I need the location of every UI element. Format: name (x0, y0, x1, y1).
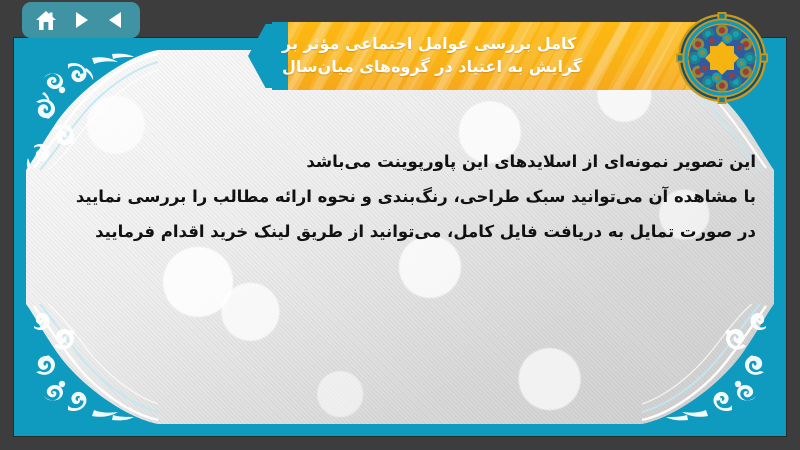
next-button[interactable] (66, 7, 96, 33)
body-line-2: با مشاهده آن می‌توانید سبک طراحی، رنگ‌بن… (44, 179, 756, 214)
title-line-2: گرایش به اعتیاد در گروه‌های میان‌سال (282, 56, 582, 79)
slide-body-text: این تصویر نمونه‌ای از اسلایدهای این پاور… (44, 144, 756, 249)
title-line-1: کامل بررسی عوامل اجتماعی مؤثر بر (282, 33, 576, 56)
body-line-1: این تصویر نمونه‌ای از اسلایدهای این پاور… (44, 144, 756, 179)
home-button[interactable] (31, 7, 61, 33)
corner-ornament-bottom-left (26, 304, 158, 424)
slide-frame: این تصویر نمونه‌ای از اسلایدهای این پاور… (14, 38, 786, 436)
persian-medallion-icon (676, 12, 768, 104)
body-line-3: در صورت تمایل به دریافت فایل کامل، می‌تو… (44, 214, 756, 249)
slide-content-panel: این تصویر نمونه‌ای از اسلایدهای این پاور… (26, 50, 774, 424)
prev-button[interactable] (101, 7, 131, 33)
presentation-slide: این تصویر نمونه‌ای از اسلایدهای این پاور… (0, 0, 800, 450)
navigation-bar[interactable] (22, 2, 140, 38)
slide-title: کامل بررسی عوامل اجتماعی مؤثر بر گرایش ب… (272, 22, 742, 90)
corner-ornament-bottom-right (642, 304, 774, 424)
